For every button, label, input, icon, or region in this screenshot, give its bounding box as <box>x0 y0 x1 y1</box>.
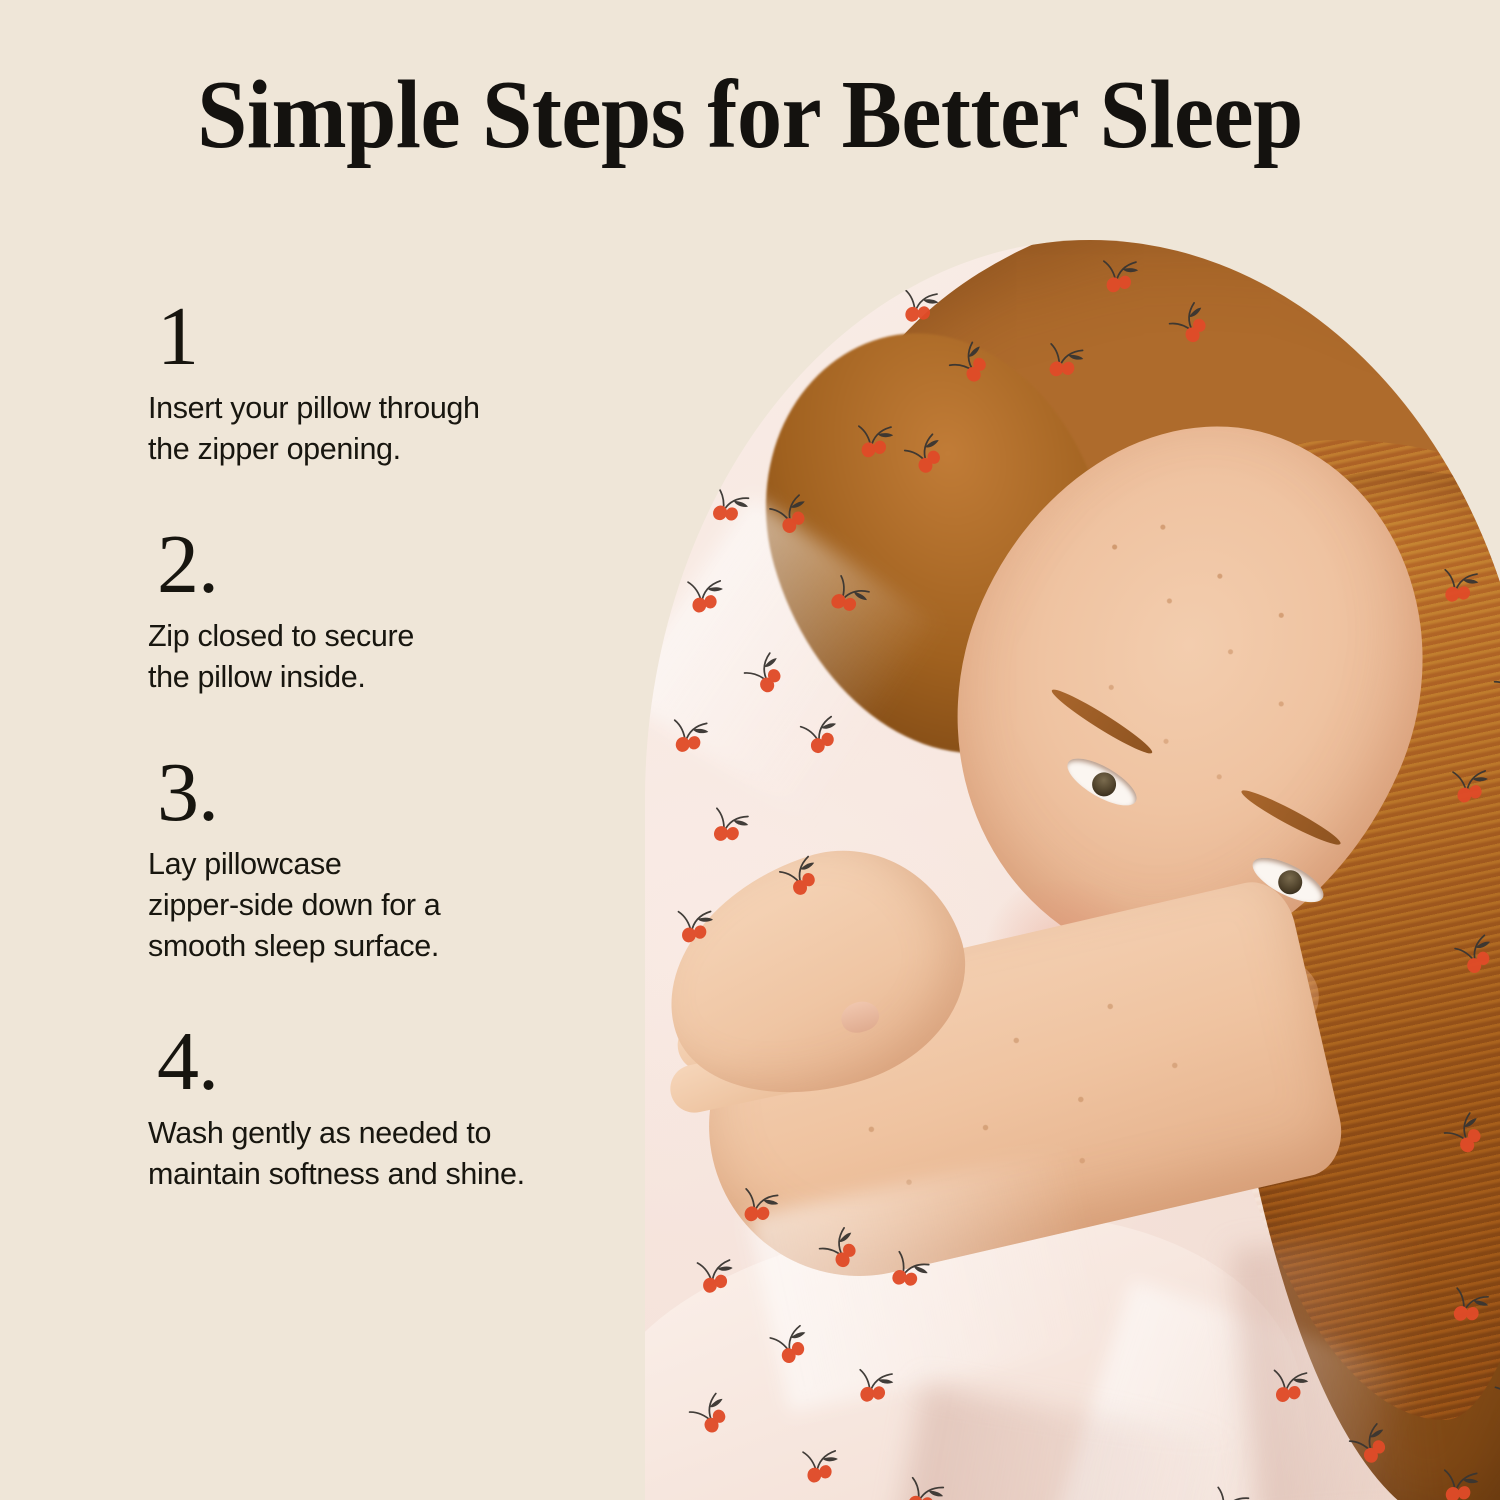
step-text: Insert your pillow through the zipper op… <box>148 388 618 470</box>
satin-shadow <box>1231 1231 1439 1500</box>
poster-canvas: Simple Steps for Better Sleep 1 Insert y… <box>0 0 1500 1500</box>
cherry-motif <box>1442 757 1494 809</box>
photo-content <box>645 240 1500 1500</box>
cherry-motif <box>846 411 901 466</box>
list-item: 1 Insert your pillow through the zipper … <box>148 296 618 470</box>
lifestyle-photo <box>645 240 1500 1500</box>
cherry-motif <box>666 896 719 949</box>
step-number: 1 <box>157 296 618 378</box>
step-text: Wash gently as needed to maintain softne… <box>148 1113 618 1195</box>
steps-list: 1 Insert your pillow through the zipper … <box>148 296 618 1195</box>
list-item: 2. Zip closed to secure the pillow insid… <box>148 524 618 698</box>
step-number: 4. <box>157 1021 618 1103</box>
cherry-motif <box>761 1316 816 1371</box>
cherry-motif <box>677 567 729 619</box>
step-number: 3. <box>157 752 618 834</box>
cherry-motif <box>1091 246 1146 301</box>
cherry-motif <box>697 792 758 853</box>
cherry-motif <box>688 1248 738 1298</box>
list-item: 4. Wash gently as needed to maintain sof… <box>148 1021 618 1195</box>
step-text: Lay pillowcase zipper-side down for a sm… <box>148 844 618 967</box>
page-title: Simple Steps for Better Sleep <box>53 66 1448 163</box>
list-item: 3. Lay pillowcase zipper-side down for a… <box>148 752 618 967</box>
step-number: 2. <box>157 524 618 606</box>
cherry-motif <box>792 1437 844 1489</box>
step-text: Zip closed to secure the pillow inside. <box>148 616 618 698</box>
cherry-motif <box>792 707 844 759</box>
